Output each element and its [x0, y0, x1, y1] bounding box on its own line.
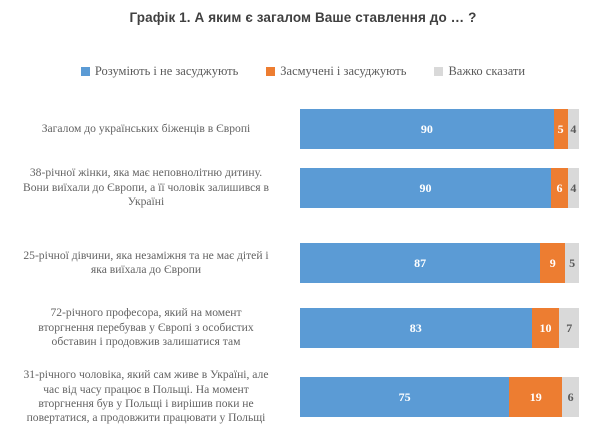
category-label: Загалом до українських біженців в Європі: [0, 122, 300, 136]
category-label-line: 25-річної дівчини, яка незаміжня та не м…: [0, 249, 292, 263]
category-label-line: Вони виїхали до Європи, а її чоловік зал…: [0, 181, 292, 195]
legend-item-label: Розуміють і не засуджують: [95, 64, 238, 79]
legend-item-label: Засмучені і засуджують: [280, 64, 406, 79]
chart-plot-area: Загалом до українських біженців в Європі…: [0, 100, 606, 443]
chart-row: 25-річної дівчини, яка незаміжня та не м…: [0, 243, 606, 283]
bar-segment[interactable]: 90: [300, 109, 554, 149]
legend-item-rozumiyut[interactable]: Розуміють і не засуджують: [81, 64, 238, 79]
category-label-line: 38-річної жінки, яка має неповнолітню ди…: [0, 166, 292, 180]
legend-swatch-icon: [266, 67, 275, 76]
chart-row: 31-річного чоловіка, який сам живе в Укр…: [0, 377, 606, 417]
bar-value-label: 4: [570, 122, 576, 137]
bar-segment[interactable]: 10: [532, 308, 560, 348]
bar-segment[interactable]: 5: [554, 109, 568, 149]
bar-value-label: 83: [410, 321, 422, 336]
stacked-bar: 8795: [300, 243, 579, 283]
chart-row: 72-річного професора, який на моментвтор…: [0, 308, 606, 348]
stacked-bar: 83107: [300, 308, 579, 348]
category-label-line: вторгнення перебував у Європі з особисти…: [0, 321, 292, 335]
chart-legend: Розуміють і не засуджують Засмучені і за…: [0, 64, 606, 79]
bar-value-label: 4: [570, 181, 576, 196]
category-label: 31-річного чоловіка, який сам живе в Укр…: [0, 368, 300, 426]
category-label-line: 31-річного чоловіка, який сам живе в Укр…: [0, 368, 292, 382]
chart-title: Графік 1. А яким є загалом Ваше ставленн…: [0, 10, 606, 25]
bar-value-label: 90: [421, 122, 433, 137]
category-label-line: вторгнення був у Польщі і вирішив поки н…: [0, 397, 292, 411]
legend-swatch-icon: [81, 67, 90, 76]
bar-segment[interactable]: 75: [300, 377, 509, 417]
category-label-line: яка виїхала до Європи: [0, 263, 292, 277]
bar-value-label: 9: [550, 256, 556, 271]
category-label: 25-річної дівчини, яка незаміжня та не м…: [0, 249, 300, 278]
chart-row: 38-річної жінки, яка має неповнолітню ди…: [0, 168, 606, 208]
bar-value-label: 7: [566, 321, 572, 336]
bar-segment[interactable]: 7: [559, 308, 579, 348]
bar-value-label: 5: [569, 256, 575, 271]
legend-item-vazhko-skazaty[interactable]: Важко сказати: [434, 64, 525, 79]
bar-segment[interactable]: 19: [509, 377, 562, 417]
stacked-bar: 9064: [300, 168, 579, 208]
bar-segment[interactable]: 5: [565, 243, 579, 283]
category-label-line: час від часу працює в Польщі. На момент: [0, 383, 292, 397]
bar-segment[interactable]: 87: [300, 243, 540, 283]
bar-value-label: 6: [556, 181, 562, 196]
bar-segment[interactable]: 4: [568, 168, 579, 208]
bar-value-label: 87: [414, 256, 426, 271]
legend-item-zasmucheni[interactable]: Засмучені і засуджують: [266, 64, 406, 79]
stacked-bar: 75196: [300, 377, 579, 417]
bar-segment[interactable]: 83: [300, 308, 532, 348]
bar-value-label: 5: [558, 122, 564, 137]
bar-segment[interactable]: 4: [568, 109, 579, 149]
category-label-line: Загалом до українських біженців в Європі: [0, 122, 292, 136]
category-label-line: повертатися, а продовжити працювати у По…: [0, 411, 292, 425]
bar-value-label: 19: [530, 390, 542, 405]
bar-value-label: 90: [420, 181, 432, 196]
bar-segment[interactable]: 6: [562, 377, 579, 417]
category-label-line: 72-річного професора, який на момент: [0, 306, 292, 320]
bar-segment[interactable]: 9: [540, 243, 565, 283]
chart-row: Загалом до українських біженців в Європі…: [0, 109, 606, 149]
legend-swatch-icon: [434, 67, 443, 76]
category-label-line: Україні: [0, 195, 292, 209]
bar-value-label: 6: [568, 390, 574, 405]
category-label: 38-річної жінки, яка має неповнолітню ди…: [0, 166, 300, 209]
bar-value-label: 75: [399, 390, 411, 405]
category-label: 72-річного професора, який на моментвтор…: [0, 306, 300, 349]
bar-segment[interactable]: 6: [551, 168, 568, 208]
bar-value-label: 10: [540, 321, 552, 336]
legend-item-label: Важко сказати: [448, 64, 525, 79]
category-label-line: обставин і продовжив залишатися там: [0, 335, 292, 349]
bar-segment[interactable]: 90: [300, 168, 551, 208]
stacked-bar: 9054: [300, 109, 579, 149]
